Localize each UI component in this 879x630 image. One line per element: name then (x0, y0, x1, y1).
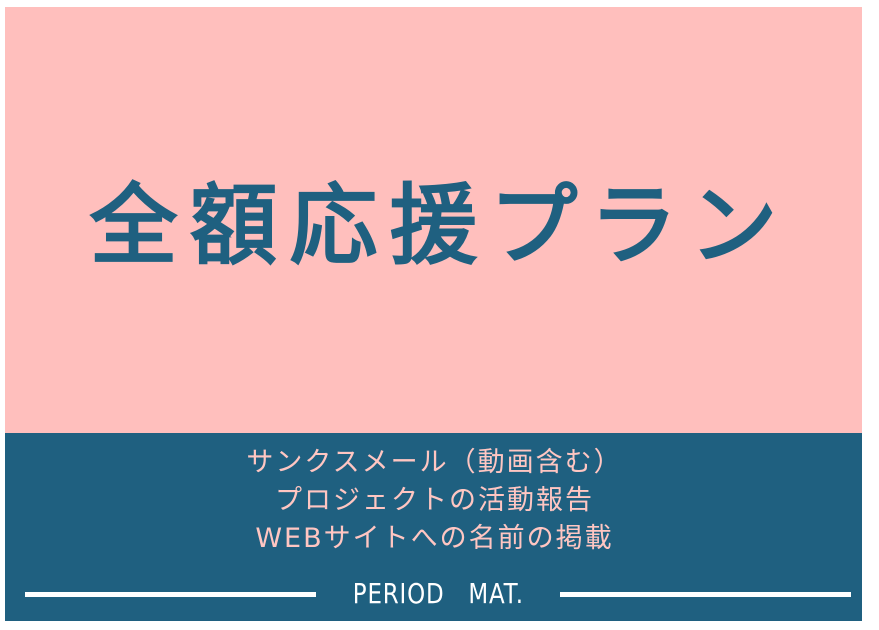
brand-name: PERIOD MAT. (352, 580, 523, 608)
benefit-item: WEBサイトへの名前の掲載 (5, 520, 862, 558)
footer-brand-bar: PERIOD MAT. (25, 577, 851, 611)
divider-rule-right (560, 592, 851, 597)
benefit-item: サンクスメール（動画含む） (5, 444, 862, 482)
plan-title: 全額応援プラン (77, 182, 789, 270)
divider-rule-left (25, 592, 316, 597)
hero-panel: 全額応援プラン (5, 7, 862, 433)
benefit-list: サンクスメール（動画含む） プロジェクトの活動報告 WEBサイトへの名前の掲載 (5, 444, 862, 558)
details-panel: サンクスメール（動画含む） プロジェクトの活動報告 WEBサイトへの名前の掲載 … (5, 433, 862, 621)
reward-plan-card: 全額応援プラン サンクスメール（動画含む） プロジェクトの活動報告 WEBサイト… (0, 0, 879, 630)
benefit-item: プロジェクトの活動報告 (5, 482, 862, 520)
